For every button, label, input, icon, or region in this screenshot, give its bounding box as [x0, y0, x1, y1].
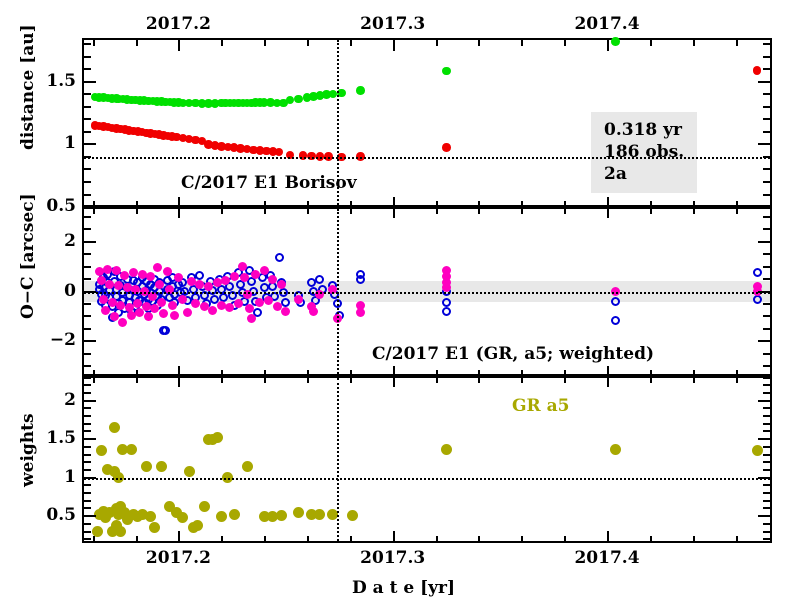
data-point: [315, 275, 324, 284]
perihelion-line: [337, 40, 339, 205]
x-axis-tick-label-bottom: 2017.2: [142, 548, 214, 568]
x-axis-minor-tick: [93, 201, 95, 206]
x-axis-minor-tick: [564, 370, 566, 375]
y-axis-minor-tick: [84, 266, 91, 268]
x-axis-minor-tick: [564, 536, 566, 542]
data-point: [442, 67, 451, 76]
x-axis-major-tick: [178, 378, 180, 387]
reference-line-horizontal: [84, 292, 770, 294]
x-axis-minor-tick: [564, 40, 566, 46]
y-axis-minor-tick: [84, 461, 91, 463]
x-axis-minor-tick: [350, 209, 352, 214]
data-point: [611, 37, 620, 46]
data-point: [753, 66, 762, 75]
x-axis-minor-tick: [307, 209, 309, 214]
x-axis-minor-tick: [650, 40, 652, 46]
x-axis-minor-tick: [136, 378, 138, 383]
y-axis-major-tick-right: [758, 241, 770, 243]
data-point: [294, 95, 303, 104]
info-box-line-arc: 0.318 yr: [604, 119, 684, 141]
y-axis-minor-tick: [84, 377, 91, 379]
y-axis-minor-tick-right: [763, 365, 770, 367]
x-axis-minor-tick: [650, 370, 652, 375]
data-point: [155, 280, 164, 289]
y-axis-minor-tick-right: [763, 492, 770, 494]
data-point: [275, 253, 284, 262]
y-axis-minor-tick: [84, 328, 91, 330]
y-axis-minor-tick-right: [763, 454, 770, 456]
data-point: [168, 301, 177, 310]
data-point: [184, 466, 195, 477]
x-axis-major-tick: [607, 366, 609, 375]
x-axis-minor-tick: [693, 209, 695, 214]
data-point: [99, 295, 108, 304]
data-point: [192, 520, 203, 531]
x-axis-minor-tick: [736, 536, 738, 542]
x-axis-minor-tick: [221, 370, 223, 375]
x-axis-minor-tick: [350, 40, 352, 46]
y-axis-minor-tick-right: [763, 415, 770, 417]
data-point: [442, 307, 451, 316]
x-axis-minor-tick: [350, 378, 352, 383]
y-axis-major-tick-right: [758, 515, 770, 517]
y-axis-minor-tick: [84, 216, 91, 218]
x-axis-minor-tick: [221, 536, 223, 542]
data-point: [141, 461, 152, 472]
x-axis-minor-tick: [736, 370, 738, 375]
x-axis-minor-tick: [307, 370, 309, 375]
x-axis-minor-tick: [93, 40, 95, 46]
x-axis-minor-tick: [478, 378, 480, 383]
reference-line-horizontal: [84, 478, 770, 480]
y-axis-minor-tick-right: [763, 384, 770, 386]
y-axis-minor-tick-right: [763, 484, 770, 486]
y-axis-minor-tick-right: [763, 303, 770, 305]
x-axis-tick-label-bottom: 2017.3: [357, 548, 429, 568]
x-axis-minor-tick: [693, 536, 695, 542]
data-point: [178, 295, 187, 304]
data-point: [114, 281, 123, 290]
x-axis-minor-tick: [521, 209, 523, 214]
data-point: [356, 86, 365, 95]
x-axis-tick-label-top: 2017.2: [142, 14, 214, 34]
data-point: [277, 280, 286, 289]
x-axis-minor-tick: [436, 378, 438, 383]
perihelion-line: [337, 209, 339, 374]
x-axis-minor-tick: [221, 40, 223, 46]
data-point: [101, 306, 110, 315]
y-axis-minor-tick: [84, 523, 91, 525]
data-point: [309, 307, 318, 316]
x-axis-minor-tick: [564, 209, 566, 214]
x-axis-minor-tick: [307, 40, 309, 46]
y-axis-minor-tick: [84, 56, 91, 58]
x-axis-minor-tick: [650, 201, 652, 206]
data-point: [195, 280, 204, 289]
x-axis-major-tick: [393, 378, 395, 387]
data-point: [260, 266, 269, 275]
x-axis-major-tick: [607, 531, 609, 542]
y-axis-minor-tick-right: [763, 228, 770, 230]
x-axis-minor-tick: [693, 201, 695, 206]
y-axis-minor-tick-right: [763, 253, 770, 255]
y-axis-minor-tick: [84, 106, 91, 108]
y-axis-major-tick: [84, 438, 96, 440]
x-axis-major-tick: [178, 531, 180, 542]
data-point: [212, 432, 223, 443]
y-axis-minor-tick-right: [763, 216, 770, 218]
data-point: [96, 445, 107, 456]
y-axis-minor-tick: [84, 353, 91, 355]
x-axis-minor-tick: [521, 536, 523, 542]
x-axis-minor-tick: [93, 370, 95, 375]
x-axis-minor-tick: [93, 378, 95, 383]
data-point: [204, 282, 213, 291]
data-point: [245, 304, 254, 313]
data-point: [153, 263, 162, 272]
y-axis-major-tick-right: [758, 438, 770, 440]
data-point: [170, 311, 179, 320]
data-point: [110, 312, 119, 321]
y-axis-minor-tick: [84, 531, 91, 533]
y-axis-minor-tick: [84, 484, 91, 486]
x-axis-minor-tick: [136, 209, 138, 214]
y-axis-minor-tick-right: [763, 353, 770, 355]
x-axis-tick-label-top: 2017.3: [357, 14, 429, 34]
y-axis-minor-tick-right: [763, 118, 770, 120]
y-axis-minor-tick: [84, 118, 91, 120]
data-point: [216, 511, 227, 522]
y-axis-minor-tick-right: [763, 407, 770, 409]
data-point: [347, 510, 358, 521]
x-axis-minor-tick: [521, 370, 523, 375]
x-axis-minor-tick: [521, 201, 523, 206]
y-axis-minor-tick: [84, 392, 91, 394]
info-box-line-model: 2a: [604, 163, 684, 185]
data-point: [199, 501, 210, 512]
y-axis-minor-tick: [84, 415, 91, 417]
figure-canvas: 2017.22017.22017.32017.32017.42017.40.51…: [0, 0, 793, 610]
x-axis-minor-tick: [478, 536, 480, 542]
x-axis-minor-tick: [264, 201, 266, 206]
x-axis-minor-tick: [221, 209, 223, 214]
x-axis-minor-tick: [436, 201, 438, 206]
reference-line-horizontal: [84, 157, 770, 159]
x-axis-minor-tick: [736, 209, 738, 214]
x-axis-tick-label-top: 2017.4: [571, 14, 643, 34]
data-point: [293, 507, 304, 518]
y-axis-minor-tick: [84, 168, 91, 170]
x-axis-minor-tick: [521, 40, 523, 46]
x-axis-tick-label-bottom: 2017.4: [571, 548, 643, 568]
y-axis-minor-tick: [84, 492, 91, 494]
y-axis-minor-tick-right: [763, 377, 770, 379]
y-axis-major-tick-right: [758, 400, 770, 402]
y-axis-minor-tick-right: [763, 278, 770, 280]
x-axis-minor-tick: [650, 536, 652, 542]
data-point: [442, 143, 451, 152]
y-axis-major-tick-right: [758, 340, 770, 342]
y-axis-minor-tick-right: [763, 461, 770, 463]
x-axis-minor-tick: [307, 536, 309, 542]
y-axis-minor-tick-right: [763, 523, 770, 525]
y-axis-label-residual: O−C [arcsec]: [18, 263, 38, 319]
data-point: [230, 272, 239, 281]
x-axis-minor-tick: [350, 201, 352, 206]
x-axis-minor-tick: [264, 209, 266, 214]
x-axis-minor-tick: [350, 370, 352, 375]
x-axis-minor-tick: [264, 536, 266, 542]
x-axis-minor-tick: [221, 201, 223, 206]
data-point: [753, 268, 762, 277]
y-axis-minor-tick: [84, 469, 91, 471]
y-axis-label-weights: weights: [18, 431, 38, 487]
x-axis-minor-tick: [736, 40, 738, 46]
data-point: [251, 270, 260, 279]
y-axis-minor-tick: [84, 315, 91, 317]
y-axis-major-tick: [84, 515, 96, 517]
x-axis-minor-tick: [93, 536, 95, 542]
data-point: [103, 265, 112, 274]
y-axis-minor-tick: [84, 253, 91, 255]
y-axis-minor-tick-right: [763, 328, 770, 330]
data-point: [109, 422, 120, 433]
y-axis-minor-tick-right: [763, 500, 770, 502]
data-point: [276, 510, 287, 521]
y-axis-major-tick: [84, 143, 96, 145]
x-axis-major-tick: [393, 209, 395, 218]
y-axis-minor-tick: [84, 278, 91, 280]
y-axis-minor-tick-right: [763, 68, 770, 70]
annotation-model-description: C/2017 E1 (GR, a5; weighted): [372, 344, 654, 364]
x-axis-major-tick: [178, 366, 180, 375]
x-axis-minor-tick: [564, 378, 566, 383]
y-axis-minor-tick-right: [763, 538, 770, 540]
x-axis-minor-tick: [478, 40, 480, 46]
data-point: [611, 316, 620, 325]
y-axis-minor-tick: [84, 194, 91, 196]
y-axis-major-tick: [84, 81, 96, 83]
y-axis-major-tick: [84, 241, 96, 243]
x-axis-major-tick: [178, 209, 180, 218]
y-axis-minor-tick-right: [763, 315, 770, 317]
data-point: [229, 509, 240, 520]
y-axis-tick-label: 2: [20, 390, 76, 410]
y-axis-minor-tick-right: [763, 181, 770, 183]
x-axis-minor-tick: [478, 201, 480, 206]
y-axis-minor-tick: [84, 93, 91, 95]
y-axis-minor-tick-right: [763, 531, 770, 533]
x-axis-minor-tick: [693, 378, 695, 383]
x-axis-minor-tick: [650, 378, 652, 383]
x-axis-minor-tick: [136, 201, 138, 206]
y-axis-major-tick-right: [758, 143, 770, 145]
x-axis-minor-tick: [478, 370, 480, 375]
x-axis-minor-tick: [307, 378, 309, 383]
x-axis-minor-tick: [307, 201, 309, 206]
x-axis-major-tick: [178, 197, 180, 206]
x-axis-minor-tick: [478, 209, 480, 214]
x-axis-major-tick: [393, 366, 395, 375]
data-point: [208, 306, 217, 315]
x-axis-minor-tick: [264, 378, 266, 383]
x-axis-minor-tick: [264, 40, 266, 46]
x-axis-minor-tick: [436, 370, 438, 375]
y-axis-minor-tick: [84, 454, 91, 456]
data-point: [145, 511, 156, 522]
y-axis-minor-tick: [84, 181, 91, 183]
x-axis-major-tick: [607, 378, 609, 387]
data-point: [281, 307, 290, 316]
x-axis-minor-tick: [693, 40, 695, 46]
y-axis-tick-label: −2: [20, 330, 76, 350]
x-axis-major-tick: [393, 40, 395, 51]
x-axis-minor-tick: [521, 378, 523, 383]
y-axis-minor-tick: [84, 68, 91, 70]
x-axis-minor-tick: [136, 536, 138, 542]
data-point: [442, 298, 451, 307]
y-axis-minor-tick-right: [763, 56, 770, 58]
y-axis-minor-tick: [84, 43, 91, 45]
info-box: 0.318 yr 186 obs. 2a: [591, 112, 697, 193]
y-axis-minor-tick: [84, 538, 91, 540]
y-axis-major-tick-right: [758, 81, 770, 83]
x-axis-major-tick: [607, 40, 609, 51]
data-point: [294, 295, 303, 304]
x-axis-minor-tick: [436, 536, 438, 542]
data-point: [611, 297, 620, 306]
data-point: [144, 312, 153, 321]
x-axis-major-tick: [393, 531, 395, 542]
y-axis-minor-tick-right: [763, 507, 770, 509]
data-point: [264, 296, 273, 305]
y-axis-minor-tick-right: [763, 93, 770, 95]
data-point: [268, 275, 277, 284]
data-point: [161, 326, 170, 335]
x-axis-minor-tick: [136, 370, 138, 375]
y-axis-minor-tick: [84, 446, 91, 448]
x-axis-minor-tick: [93, 209, 95, 214]
data-point: [356, 275, 365, 284]
y-axis-minor-tick-right: [763, 430, 770, 432]
y-axis-minor-tick-right: [763, 266, 770, 268]
data-point: [126, 444, 137, 455]
y-axis-minor-tick-right: [763, 392, 770, 394]
y-axis-major-tick: [84, 340, 96, 342]
data-point: [157, 298, 166, 307]
x-axis-minor-tick: [350, 536, 352, 542]
y-axis-label-distance: distance [au]: [18, 94, 38, 150]
y-axis-minor-tick: [84, 407, 91, 409]
y-axis-minor-tick-right: [763, 446, 770, 448]
y-axis-minor-tick-right: [763, 423, 770, 425]
x-axis-major-tick: [607, 209, 609, 218]
data-point: [183, 308, 192, 317]
x-axis-minor-tick: [564, 201, 566, 206]
info-box-line-obs: 186 obs.: [604, 141, 684, 163]
x-axis-major-tick: [178, 40, 180, 51]
x-axis-minor-tick: [264, 370, 266, 375]
x-axis-major-tick: [607, 197, 609, 206]
x-axis-minor-tick: [221, 378, 223, 383]
y-axis-minor-tick: [84, 507, 91, 509]
y-axis-minor-tick: [84, 228, 91, 230]
x-axis-minor-tick: [136, 40, 138, 46]
y-axis-minor-tick: [84, 430, 91, 432]
y-axis-minor-tick-right: [763, 194, 770, 196]
y-axis-tick-label: 0.5: [20, 505, 76, 525]
y-axis-minor-tick-right: [763, 469, 770, 471]
data-point: [242, 461, 253, 472]
data-point: [221, 276, 230, 285]
x-axis-minor-tick: [436, 209, 438, 214]
x-axis-minor-tick: [736, 201, 738, 206]
annotation-weight-model: GR a5: [512, 396, 569, 416]
y-axis-minor-tick-right: [763, 43, 770, 45]
data-point: [752, 445, 763, 456]
y-axis-minor-tick-right: [763, 168, 770, 170]
x-axis-label: D a t e [yr]: [352, 578, 455, 598]
y-axis-minor-tick: [84, 500, 91, 502]
y-axis-minor-tick: [84, 365, 91, 367]
x-axis-minor-tick: [436, 40, 438, 46]
y-axis-minor-tick: [84, 423, 91, 425]
y-axis-minor-tick: [84, 131, 91, 133]
data-point: [116, 301, 125, 310]
x-axis-minor-tick: [650, 209, 652, 214]
data-point: [329, 90, 338, 99]
y-axis-minor-tick-right: [763, 131, 770, 133]
x-axis-major-tick: [393, 197, 395, 206]
y-axis-major-tick: [84, 400, 96, 402]
x-axis-minor-tick: [736, 378, 738, 383]
y-axis-minor-tick-right: [763, 106, 770, 108]
y-axis-minor-tick: [84, 303, 91, 305]
annotation-comet-name: C/2017 E1 Borisov: [181, 173, 357, 193]
y-axis-minor-tick: [84, 384, 91, 386]
perihelion-line: [337, 378, 339, 541]
x-axis-minor-tick: [693, 370, 695, 375]
